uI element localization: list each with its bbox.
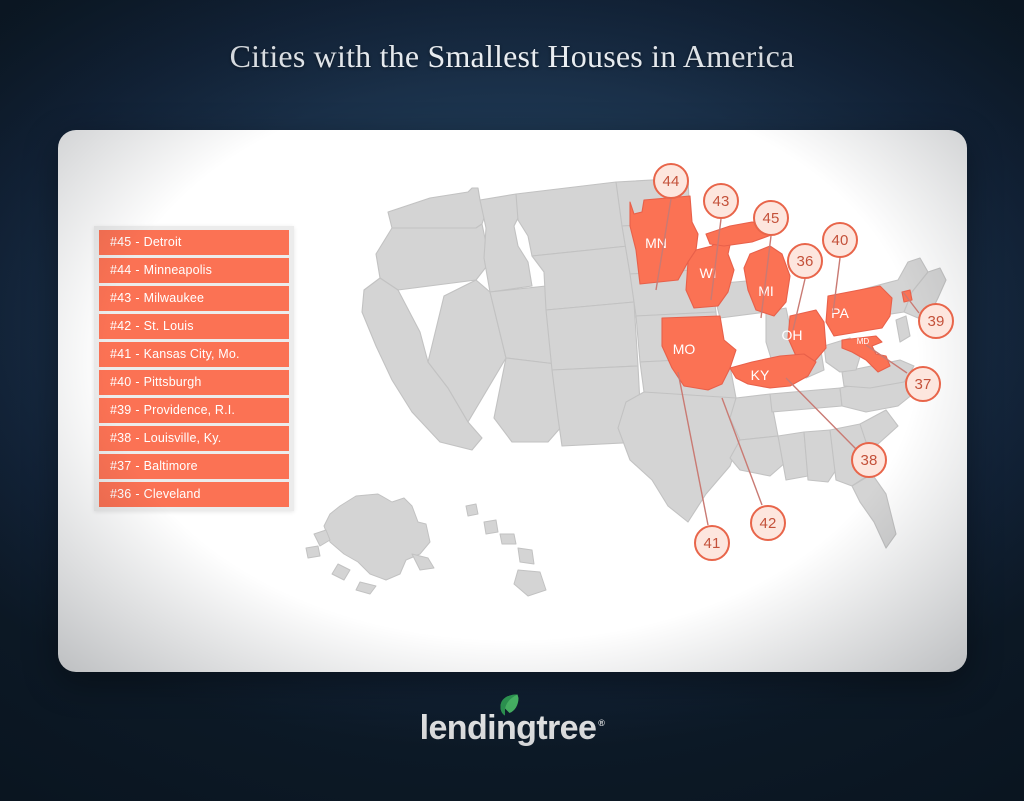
state-label-ky: KY [751,367,770,383]
list-item-dash: - [135,320,139,333]
list-item-rank: #39 [110,404,131,417]
list-item-dash: - [135,404,139,417]
list-item-city: Cleveland [144,488,201,501]
map-marker-40[interactable]: 40 [822,222,858,258]
list-item-rank: #37 [110,460,131,473]
list-item-rank: #41 [110,348,131,361]
logo-wordmark: lendingtree® [420,709,605,748]
map-marker-37[interactable]: 37 [905,366,941,402]
ranked-city-list: #45 - Detroit #44 - Minneapolis #43 - Mi… [94,226,294,511]
state-rhode-island [902,290,912,302]
list-item-city: Kansas City, Mo. [144,348,240,361]
map-marker-36[interactable]: 36 [787,243,823,279]
list-item-city: Minneapolis [144,264,212,277]
state-label-wi: WI [699,265,716,281]
list-item[interactable]: #41 - Kansas City, Mo. [99,342,289,367]
lendingtree-logo: lendingtree® [0,702,1024,754]
list-item[interactable]: #39 - Providence, R.I. [99,398,289,423]
map-hawaii [466,504,546,596]
list-item[interactable]: #42 - St. Louis [99,314,289,339]
list-item[interactable]: #40 - Pittsburgh [99,370,289,395]
us-map-svg: MN WI MI OH PA MD MO KY [300,150,960,650]
list-item-dash: - [135,432,139,445]
list-item-dash: - [135,264,139,277]
state-label-md: MD [857,337,870,346]
us-map: MN WI MI OH PA MD MO KY [300,150,960,650]
list-item-rank: #36 [110,488,131,501]
state-kentucky [730,354,816,388]
page-title: Cities with the Smallest Houses in Ameri… [0,38,1024,75]
list-item-city: Detroit [144,236,182,249]
state-label-mn: MN [645,235,667,251]
list-item-dash: - [135,488,139,501]
map-marker-39[interactable]: 39 [918,303,954,339]
list-item[interactable]: #43 - Milwaukee [99,286,289,311]
state-label-pa: PA [831,305,849,321]
list-item[interactable]: #45 - Detroit [99,230,289,255]
map-marker-43[interactable]: 43 [703,183,739,219]
list-item-city: Baltimore [144,460,198,473]
list-item-rank: #45 [110,236,131,249]
list-item-dash: - [135,292,139,305]
logo-registered-mark: ® [598,718,604,728]
list-item-rank: #40 [110,376,131,389]
list-item-city: St. Louis [144,320,194,333]
list-item-city: Milwaukee [144,292,204,305]
list-item-dash: - [135,348,139,361]
state-label-oh: OH [782,327,803,343]
leaf-icon [496,692,522,720]
map-marker-41[interactable]: 41 [694,525,730,561]
list-item[interactable]: #44 - Minneapolis [99,258,289,283]
state-label-mi: MI [758,283,774,299]
list-item[interactable]: #36 - Cleveland [99,482,289,507]
map-marker-45[interactable]: 45 [753,200,789,236]
map-marker-44[interactable]: 44 [653,163,689,199]
list-item-rank: #44 [110,264,131,277]
list-item[interactable]: #37 - Baltimore [99,454,289,479]
map-marker-38[interactable]: 38 [851,442,887,478]
list-item-dash: - [135,376,139,389]
list-item-rank: #42 [110,320,131,333]
list-item-rank: #43 [110,292,131,305]
list-item-dash: - [135,236,139,249]
list-item-city: Pittsburgh [144,376,202,389]
list-item-city: Louisville, Ky. [144,432,222,445]
map-alaska [306,494,434,594]
list-item-dash: - [135,460,139,473]
state-label-mo: MO [673,341,696,357]
list-item-rank: #38 [110,432,131,445]
list-item-city: Providence, R.I. [144,404,235,417]
list-item[interactable]: #38 - Louisville, Ky. [99,426,289,451]
map-marker-42[interactable]: 42 [750,505,786,541]
